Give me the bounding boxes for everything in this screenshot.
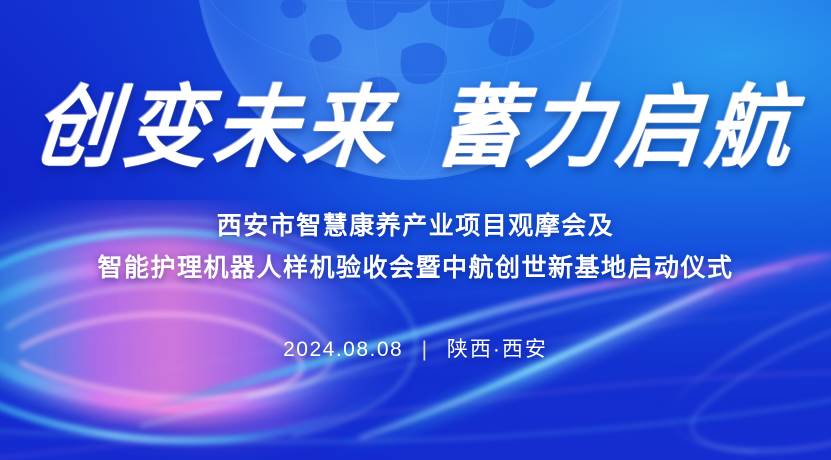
subtitle-line-2: 智能护理机器人样机验收会暨中航创世新基地启动仪式 bbox=[0, 248, 831, 284]
headline-part-1: 创变未来 bbox=[30, 83, 398, 172]
subtitle-line-1: 西安市智慧康养产业项目观摩会及 bbox=[0, 206, 831, 242]
event-banner: 创变未来 蓄力启航 西安市智慧康养产业项目观摩会及 智能护理机器人样机验收会暨中… bbox=[0, 0, 831, 460]
headline-part-2: 蓄力启航 bbox=[433, 83, 801, 172]
event-location: 陕西·西安 bbox=[447, 338, 548, 361]
headline: 创变未来 蓄力启航 bbox=[0, 86, 831, 170]
dateline-separator: | bbox=[422, 338, 429, 362]
event-date: 2024.08.08 bbox=[283, 338, 403, 361]
dateline: 2024.08.08 | 陕西·西安 bbox=[0, 333, 831, 363]
